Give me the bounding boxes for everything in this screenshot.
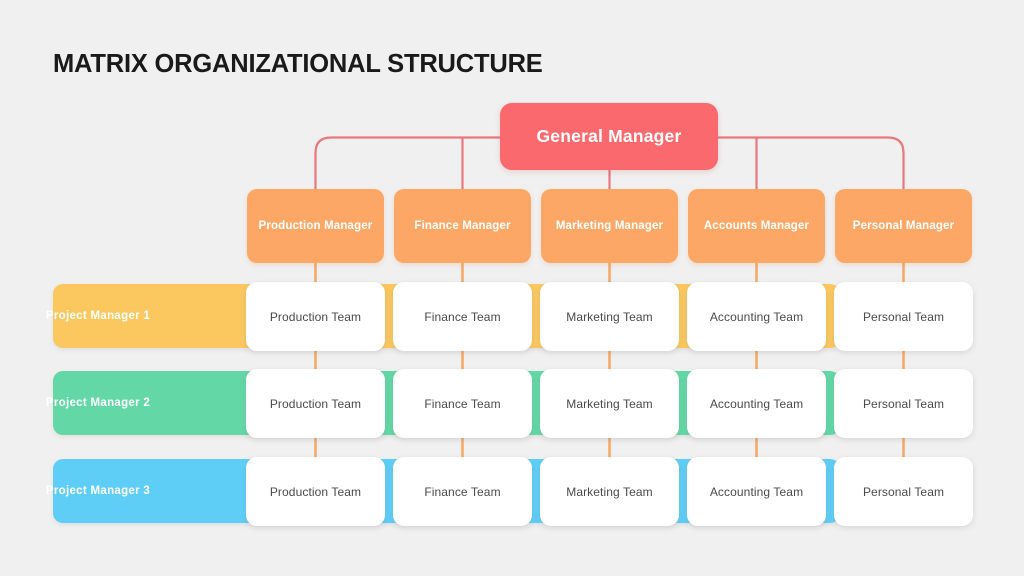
- team-card-finance-2[interactable]: Finance Team: [393, 369, 532, 438]
- node-finance-manager[interactable]: Finance Manager: [394, 189, 531, 263]
- node-accounts-manager[interactable]: Accounts Manager: [688, 189, 825, 263]
- org-chart-slide: MATRIX ORGANIZATIONAL STRUCTURE General …: [0, 0, 1024, 576]
- team-card-finance-1[interactable]: Finance Team: [393, 282, 532, 351]
- node-marketing-manager[interactable]: Marketing Manager: [541, 189, 678, 263]
- team-card-marketing-1[interactable]: Marketing Team: [540, 282, 679, 351]
- team-card-personal-1[interactable]: Personal Team: [834, 282, 973, 351]
- project-row-3: Project Manager 3 Production Team Financ…: [0, 459, 1024, 523]
- team-card-marketing-3[interactable]: Marketing Team: [540, 457, 679, 526]
- page-title: MATRIX ORGANIZATIONAL STRUCTURE: [53, 50, 543, 79]
- team-card-accounting-2[interactable]: Accounting Team: [687, 369, 826, 438]
- team-card-personal-3[interactable]: Personal Team: [834, 457, 973, 526]
- project-manager-1-label: Project Manager 1: [0, 284, 196, 348]
- project-manager-2-label: Project Manager 2: [0, 371, 196, 435]
- project-row-1: Project Manager 1 Production Team Financ…: [0, 284, 1024, 348]
- connector-gm-to-personal: [718, 138, 904, 190]
- team-card-production-1[interactable]: Production Team: [246, 282, 385, 351]
- connector-gm-to-production: [316, 138, 501, 190]
- team-card-personal-2[interactable]: Personal Team: [834, 369, 973, 438]
- project-row-2: Project Manager 2 Production Team Financ…: [0, 371, 1024, 435]
- node-general-manager[interactable]: General Manager: [500, 103, 718, 170]
- team-card-production-3[interactable]: Production Team: [246, 457, 385, 526]
- team-card-marketing-2[interactable]: Marketing Team: [540, 369, 679, 438]
- team-card-production-2[interactable]: Production Team: [246, 369, 385, 438]
- node-production-manager[interactable]: Production Manager: [247, 189, 384, 263]
- team-card-accounting-1[interactable]: Accounting Team: [687, 282, 826, 351]
- project-manager-3-label: Project Manager 3: [0, 459, 196, 523]
- team-card-accounting-3[interactable]: Accounting Team: [687, 457, 826, 526]
- team-card-finance-3[interactable]: Finance Team: [393, 457, 532, 526]
- node-personal-manager[interactable]: Personal Manager: [835, 189, 972, 263]
